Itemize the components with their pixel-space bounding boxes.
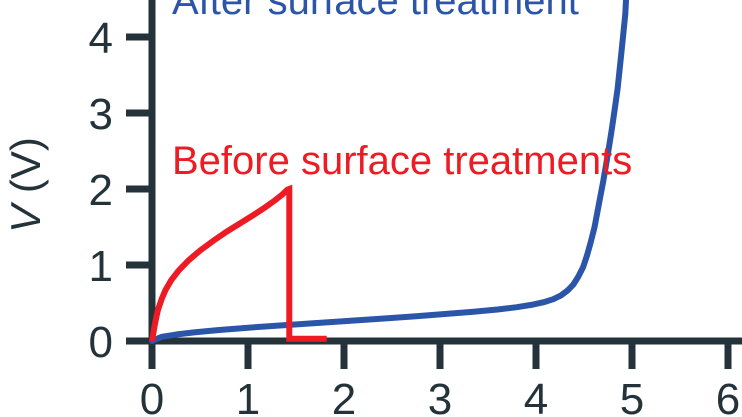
y-tick-label-2: 2 <box>89 166 113 215</box>
series-line-before-surface-treatments <box>152 189 327 341</box>
x-tick-label-0: 0 <box>140 375 164 417</box>
voltage-vs-capacity-plot: 0 1 2 3 4 0 1 2 3 4 5 6 <box>0 0 742 417</box>
x-tick-label-6: 6 <box>716 375 740 417</box>
y-ticks-group <box>126 37 152 341</box>
x-tick-label-4: 4 <box>524 375 548 417</box>
x-ticks-group <box>152 341 728 369</box>
x-tick-label-2: 2 <box>332 375 356 417</box>
x-tick-labels-group: 0 1 2 3 4 5 6 <box>140 375 740 417</box>
x-tick-label-1: 1 <box>236 375 260 417</box>
y-tick-label-1: 1 <box>89 242 113 291</box>
x-tick-label-5: 5 <box>620 375 644 417</box>
y-axis-title: V (V) <box>2 137 49 233</box>
x-tick-label-3: 3 <box>428 375 452 417</box>
y-axis-title-group: V (V) <box>2 137 49 233</box>
series-annotation-before-surface-treatments: Before surface treatments <box>172 139 632 183</box>
y-axis-title-unit: (V) <box>2 137 49 205</box>
y-tick-label-4: 4 <box>89 14 113 63</box>
series-annotation-after-surface-treatment: After surface treatment <box>172 0 579 23</box>
y-tick-labels-group: 0 1 2 3 4 <box>89 14 113 367</box>
y-tick-label-0: 0 <box>89 318 113 367</box>
y-tick-label-3: 3 <box>89 90 113 139</box>
chart-canvas: 0 1 2 3 4 0 1 2 3 4 5 6 <box>0 0 742 417</box>
